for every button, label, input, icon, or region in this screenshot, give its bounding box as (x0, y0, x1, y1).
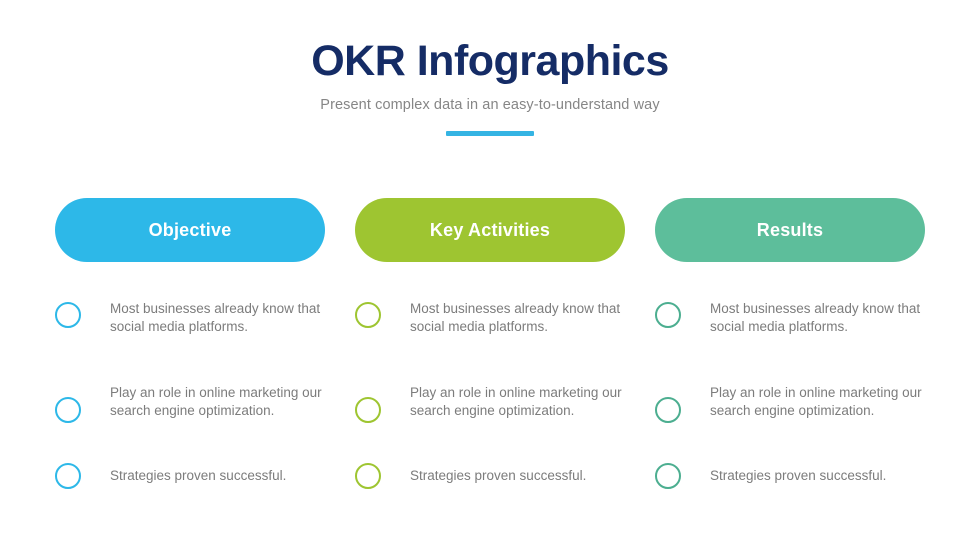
column-header-pill-key-activities[interactable]: Key Activities (355, 198, 625, 262)
circle-marker-icon (55, 302, 81, 328)
list-item[interactable]: Most businesses already know that social… (355, 299, 625, 361)
list-item[interactable]: Play an role in online marketing our sea… (655, 383, 925, 445)
pill-label: Results (757, 220, 823, 241)
circle-marker-icon (655, 463, 681, 489)
list-item[interactable]: Strategies proven successful. (655, 463, 925, 525)
list-item-label: Most businesses already know that social… (710, 299, 925, 336)
list-item-label: Play an role in online marketing our sea… (110, 383, 325, 420)
list-item[interactable]: Strategies proven successful. (55, 463, 325, 525)
okr-column-results: Results Most businesses already know tha… (655, 198, 925, 525)
column-header-pill-objective[interactable]: Objective (55, 198, 325, 262)
accent-divider (446, 131, 534, 136)
list-item-label: Play an role in online marketing our sea… (710, 383, 925, 420)
list-item[interactable]: Strategies proven successful. (355, 463, 625, 525)
slide-canvas: OKR Infographics Present complex data in… (0, 0, 980, 551)
circle-marker-icon (655, 397, 681, 423)
list-item-label: Strategies proven successful. (710, 463, 886, 485)
list-item-label: Strategies proven successful. (410, 463, 586, 485)
circle-marker-icon (355, 397, 381, 423)
page-title: OKR Infographics (0, 38, 980, 84)
circle-marker-icon (655, 302, 681, 328)
circle-marker-icon (355, 302, 381, 328)
circle-marker-icon (55, 463, 81, 489)
circle-marker-icon (55, 397, 81, 423)
column-header-pill-results[interactable]: Results (655, 198, 925, 262)
okr-columns: Objective Most businesses already know t… (55, 198, 925, 525)
bullet-list-key-activities: Most businesses already know that social… (355, 299, 625, 525)
okr-column-objective: Objective Most businesses already know t… (55, 198, 325, 525)
okr-column-key-activities: Key Activities Most businesses already k… (355, 198, 625, 525)
page-subtitle: Present complex data in an easy-to-under… (0, 97, 980, 113)
list-item[interactable]: Play an role in online marketing our sea… (55, 383, 325, 445)
bullet-list-results: Most businesses already know that social… (655, 299, 925, 525)
pill-label: Key Activities (430, 220, 550, 241)
list-item[interactable]: Most businesses already know that social… (655, 299, 925, 361)
circle-marker-icon (355, 463, 381, 489)
list-item[interactable]: Play an role in online marketing our sea… (355, 383, 625, 445)
list-item-label: Play an role in online marketing our sea… (410, 383, 625, 420)
list-item-label: Strategies proven successful. (110, 463, 286, 485)
list-item[interactable]: Most businesses already know that social… (55, 299, 325, 361)
bullet-list-objective: Most businesses already know that social… (55, 299, 325, 525)
slide-header: OKR Infographics Present complex data in… (0, 38, 980, 136)
list-item-label: Most businesses already know that social… (110, 299, 325, 336)
list-item-label: Most businesses already know that social… (410, 299, 625, 336)
pill-label: Objective (149, 220, 232, 241)
